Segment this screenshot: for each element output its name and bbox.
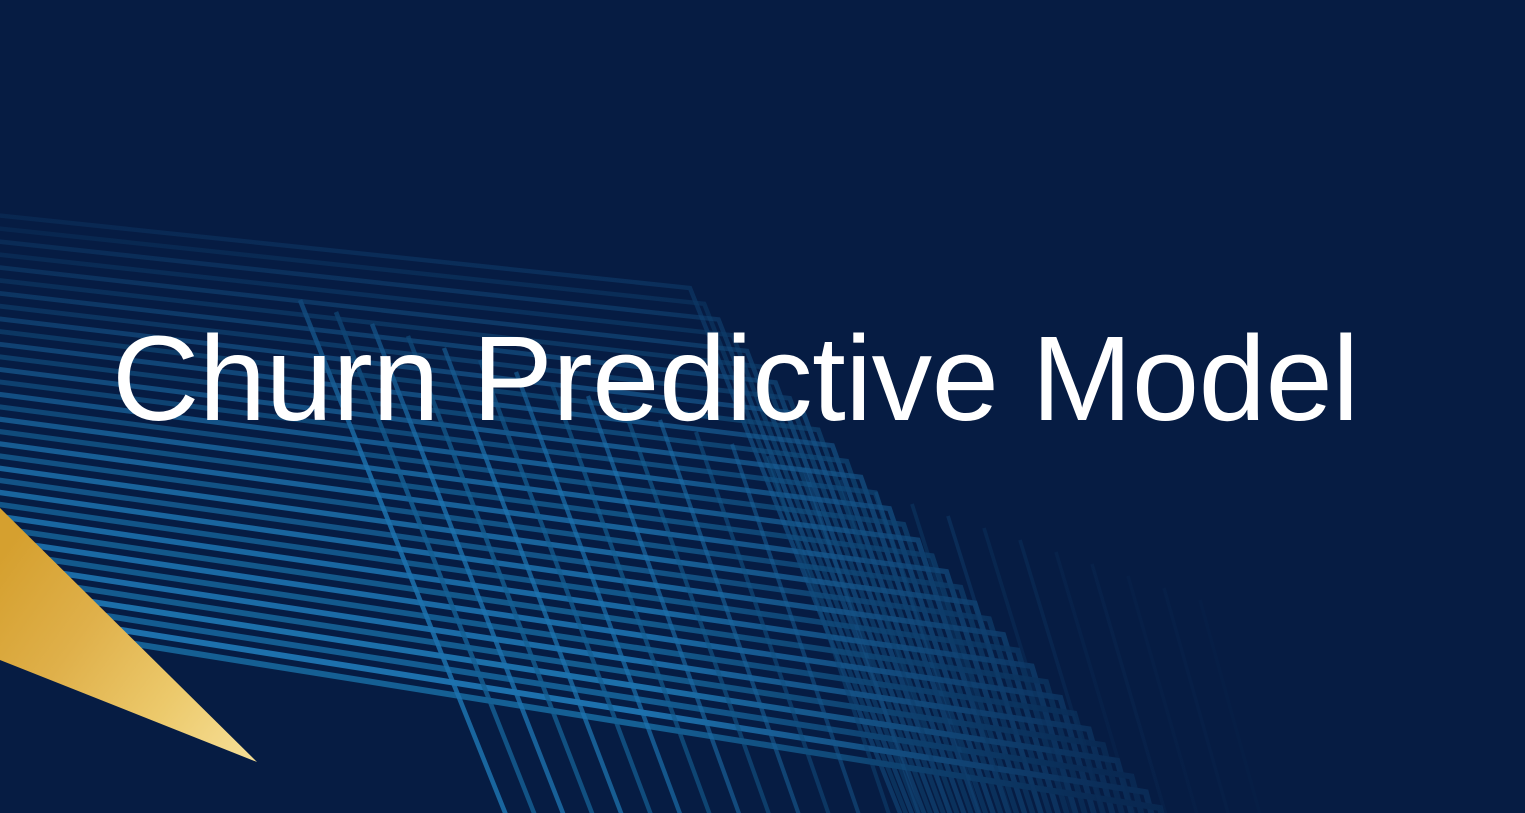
title-layer: Churn Predictive Model — [0, 0, 1525, 813]
page-title: Churn Predictive Model — [112, 318, 1452, 439]
title-slide: Churn Predictive Model — [0, 0, 1525, 813]
